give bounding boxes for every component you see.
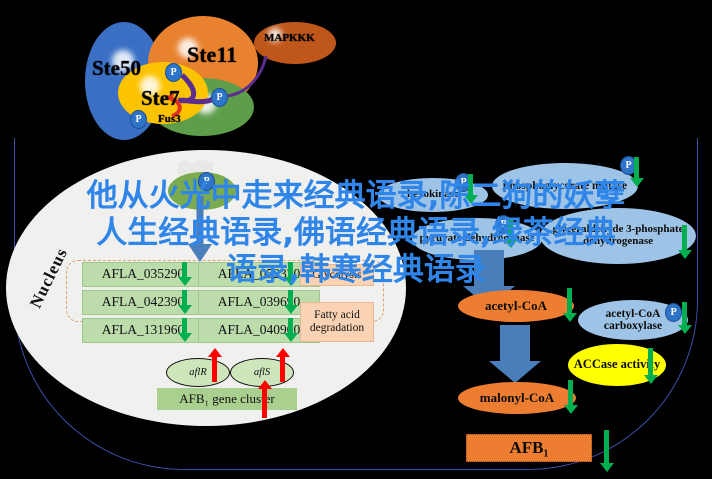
process-box-fatty-acid-degradation: Fatty acid degradation xyxy=(300,302,374,342)
up-arrow-gene-cluster xyxy=(262,388,267,418)
label-ste50: Ste50 xyxy=(92,56,141,81)
down-arrow-gene-left-1 xyxy=(182,262,187,278)
diagram-canvas: Nucleus Ste50 Ste11 Ste7 Fus3 MAPKKK P P… xyxy=(0,0,712,479)
gene-cluster-box: AFB₁ gene cluster xyxy=(157,388,297,410)
down-arrow-pyruvate-dehydrogenase xyxy=(508,218,513,240)
label-ste11: Ste11 xyxy=(187,42,237,68)
down-arrow-phosphoglycerate-mutase xyxy=(634,157,639,179)
down-arrow-afb1 xyxy=(604,430,609,464)
down-arrow-malonyl-coa xyxy=(568,380,573,406)
down-arrow-accase-activity xyxy=(648,348,653,376)
down-arrow-acetyl-coa xyxy=(567,288,572,314)
phospho-badge-ste11: P xyxy=(165,63,182,82)
flow-arrow-to-malonyl-coa xyxy=(500,325,530,363)
down-arrow-hexokinase xyxy=(468,174,473,196)
down-arrow-gene-left-2 xyxy=(182,290,187,306)
enzyme-ellipse-phosphoglycerate-mutase: phosphoglycerate mutase xyxy=(492,163,638,209)
label-mapkkk: MAPKKK xyxy=(264,32,315,44)
regulator-ellipse-aflr: aflR xyxy=(166,358,230,387)
enzyme-ellipse-gapdh: glyceraldehyde 3-phosphate dehydrogenase xyxy=(540,208,696,264)
phospho-badge-ste7: P xyxy=(130,110,147,129)
down-arrow-gapdh xyxy=(682,225,687,251)
down-arrow-gene-right-1 xyxy=(288,262,293,278)
flow-arrow-to-acetyl-coa xyxy=(474,250,504,288)
gis1-to-nucleus-arrow xyxy=(180,196,220,266)
metabolite-ellipse-malonyl-coa: malonyl-CoA xyxy=(458,382,576,414)
phospho-badge-fus3: P xyxy=(211,88,228,107)
phospho-badge-acetyl-coa-carboxylase: P xyxy=(665,303,682,322)
down-arrow-acetyl-coa-carboxylase xyxy=(682,302,687,326)
down-arrow-gene-left-3 xyxy=(182,318,187,334)
up-arrow-aflr xyxy=(212,356,217,382)
phospho-badge-gis1: P xyxy=(198,172,215,191)
metabolite-ellipse-acetyl-coa: acetyl-CoA xyxy=(458,290,574,322)
process-box-glycolysis: Glycolysis xyxy=(300,264,374,286)
up-arrow-afls xyxy=(280,356,285,382)
down-arrow-gene-right-3 xyxy=(288,318,293,334)
down-arrow-gene-right-2 xyxy=(288,290,293,306)
product-box-afb1: AFB₁ xyxy=(466,434,592,462)
label-fus3: Fus3 xyxy=(158,113,181,125)
label-ste7: Ste7 xyxy=(141,86,180,111)
